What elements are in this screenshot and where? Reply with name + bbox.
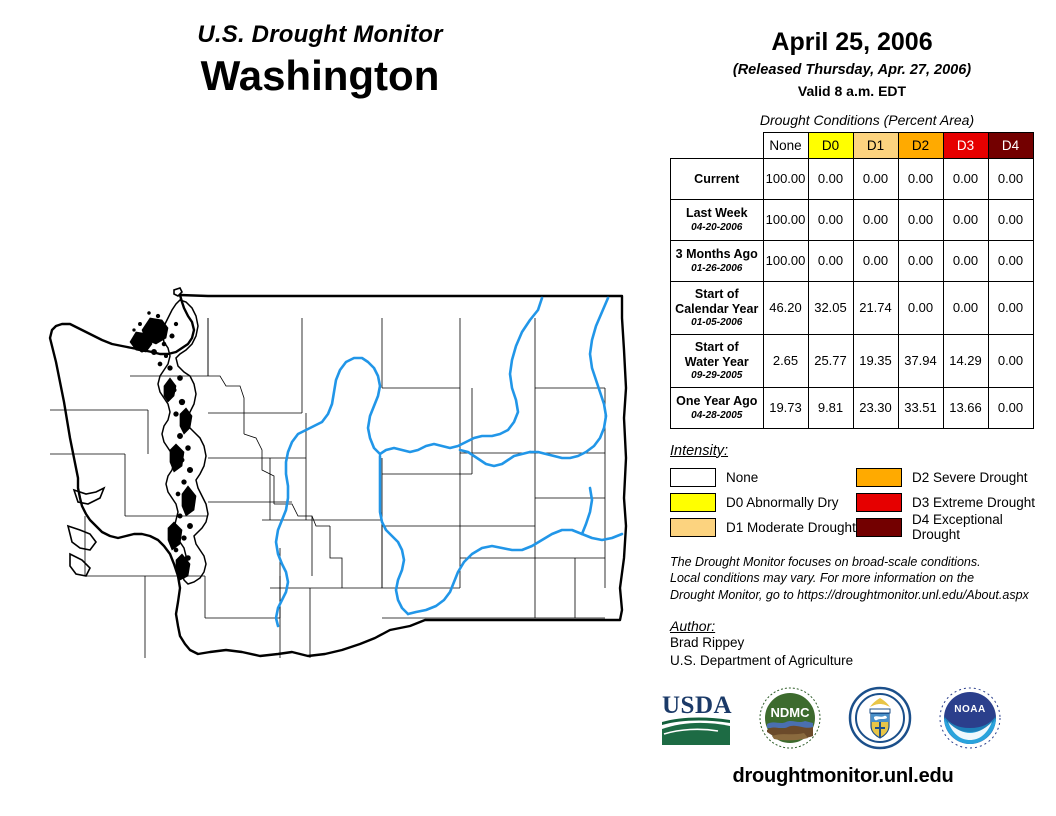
row-label-date: 09-29-2005	[673, 370, 761, 382]
row-label-text-line1: Start of	[695, 287, 739, 301]
table-row: Current 100.00 0.00 0.00 0.00 0.00 0.00	[671, 158, 1034, 199]
cell-wateryear-none: 2.65	[763, 334, 808, 387]
cell-lastweek-none: 100.00	[763, 199, 808, 240]
snake-river	[408, 530, 622, 614]
cell-current-d1: 0.00	[853, 158, 898, 199]
cell-wateryear-d1: 19.35	[853, 334, 898, 387]
cell-lastweek-d3: 0.00	[943, 199, 988, 240]
cell-calyear-d0: 32.05	[808, 281, 853, 334]
table-header-row: None D0 D1 D2 D3 D4	[671, 132, 1034, 158]
table-row: Start of Water Year 09-29-2005 2.65 25.7…	[671, 334, 1034, 387]
cell-calyear-d2: 0.00	[898, 281, 943, 334]
column-header-d4: D4	[988, 132, 1033, 158]
row-label-date: 04-20-2006	[673, 222, 761, 234]
valid-time: Valid 8 a.m. EDT	[648, 83, 1056, 99]
cell-3months-none: 100.00	[763, 240, 808, 281]
site-url: droughtmonitor.unl.edu	[648, 765, 1056, 788]
swatch-d1-icon	[670, 518, 716, 537]
date-block: April 25, 2006 (Released Thursday, Apr. …	[648, 0, 1056, 99]
row-label-one-year-ago: One Year Ago 04-28-2005	[671, 387, 764, 428]
author-organization: U.S. Department of Agriculture	[670, 652, 1056, 670]
legend-item-d0: D0 Abnormally Dry	[670, 493, 856, 512]
row-label-date: 01-26-2006	[673, 263, 761, 275]
author-heading: Author:	[670, 618, 1056, 634]
cell-lastweek-d4: 0.00	[988, 199, 1033, 240]
swatch-none-icon	[670, 468, 716, 487]
row-label-text-line2: Calendar Year	[675, 302, 758, 316]
cell-wateryear-d0: 25.77	[808, 334, 853, 387]
cell-calyear-d1: 21.74	[853, 281, 898, 334]
corner-cell	[671, 132, 764, 158]
rivers-layer	[276, 298, 622, 626]
cell-current-d2: 0.00	[898, 158, 943, 199]
svg-text:NOAA: NOAA	[954, 704, 985, 715]
row-label-text: Current	[694, 172, 739, 186]
swatch-d0-icon	[670, 493, 716, 512]
ndmc-logo-icon: NDMC	[758, 686, 822, 750]
column-header-d2: D2	[898, 132, 943, 158]
cell-oneyear-none: 19.73	[763, 387, 808, 428]
table-row: 3 Months Ago 01-26-2006 100.00 0.00 0.00…	[671, 240, 1034, 281]
cell-wateryear-d2: 37.94	[898, 334, 943, 387]
cell-calyear-d3: 0.00	[943, 281, 988, 334]
conditions-table-wrapper: None D0 D1 D2 D3 D4 Current 100.00 0.00 …	[648, 132, 1056, 429]
row-label-text-line2: Water Year	[685, 355, 749, 369]
intensity-legend: None D2 Severe Drought D0 Abnormally Dry…	[670, 465, 1056, 540]
disclaimer-line-1: The Drought Monitor focuses on broad-sca…	[670, 554, 1056, 571]
column-header-d0: D0	[808, 132, 853, 158]
columbia-river-mid	[460, 450, 530, 466]
usdc-seal-icon	[848, 686, 912, 750]
legend-label-d1: D1 Moderate Drought	[726, 520, 856, 535]
report-date: April 25, 2006	[648, 28, 1056, 57]
cell-lastweek-d2: 0.00	[898, 199, 943, 240]
column-header-d1: D1	[853, 132, 898, 158]
cell-wateryear-d4: 0.00	[988, 334, 1033, 387]
row-label-current: Current	[671, 158, 764, 199]
coastal-inlets	[68, 488, 104, 576]
legend-item-d2: D2 Severe Drought	[856, 468, 1042, 487]
column-header-d3: D3	[943, 132, 988, 158]
disclaimer-line-2: Local conditions may vary. For more info…	[670, 570, 1056, 587]
drought-map	[30, 258, 640, 658]
table-body: Current 100.00 0.00 0.00 0.00 0.00 0.00 …	[671, 158, 1034, 428]
swatch-d3-icon	[856, 493, 902, 512]
usdc-seal	[848, 686, 912, 755]
svg-text:NDMC: NDMC	[771, 705, 811, 720]
noaa-logo-icon: NOAA	[938, 686, 1002, 750]
row-label-text: Last Week	[686, 206, 748, 220]
columbia-river-north-bend	[276, 358, 380, 626]
legend-item-none: None	[670, 468, 856, 487]
row-label-start-water-year: Start of Water Year 09-29-2005	[671, 334, 764, 387]
usda-logo: USDA	[660, 689, 732, 752]
cell-current-d4: 0.00	[988, 158, 1033, 199]
river-branch-ne	[582, 488, 592, 534]
row-label-start-calendar-year: Start of Calendar Year 01-05-2006	[671, 281, 764, 334]
right-panel: April 25, 2006 (Released Thursday, Apr. …	[648, 0, 1056, 816]
snake-confluence	[380, 456, 408, 614]
table-row: Start of Calendar Year 01-05-2006 46.20 …	[671, 281, 1034, 334]
cell-lastweek-d1: 0.00	[853, 199, 898, 240]
legend-item-d3: D3 Extreme Drought	[856, 493, 1042, 512]
legend-label-d2: D2 Severe Drought	[912, 470, 1028, 485]
noaa-logo: NOAA	[938, 686, 1002, 755]
cell-calyear-d4: 0.00	[988, 281, 1033, 334]
row-label-three-months-ago: 3 Months Ago 01-26-2006	[671, 240, 764, 281]
disclaimer-line-3: Drought Monitor, go to https://droughtmo…	[670, 587, 1056, 604]
cell-3months-d2: 0.00	[898, 240, 943, 281]
legend-label-none: None	[726, 470, 758, 485]
title-block: U.S. Drought Monitor Washington	[0, 22, 640, 101]
cell-oneyear-d3: 13.66	[943, 387, 988, 428]
cell-current-d0: 0.00	[808, 158, 853, 199]
cell-oneyear-d1: 23.30	[853, 387, 898, 428]
svg-text:USDA: USDA	[662, 692, 732, 719]
table-row: One Year Ago 04-28-2005 19.73 9.81 23.30…	[671, 387, 1034, 428]
legend-item-d1: D1 Moderate Drought	[670, 518, 856, 537]
row-label-text-line1: Start of	[695, 340, 739, 354]
usda-logo-icon: USDA	[660, 689, 732, 747]
row-label-date: 01-05-2006	[673, 317, 761, 329]
legend-label-d4: D4 Exceptional Drought	[912, 512, 1042, 542]
cell-calyear-none: 46.20	[763, 281, 808, 334]
cell-3months-d1: 0.00	[853, 240, 898, 281]
puget-sound-islands	[130, 300, 208, 584]
agency-logos: USDA NDMC	[660, 686, 1056, 755]
row-label-last-week: Last Week 04-20-2006	[671, 199, 764, 240]
row-label-text: One Year Ago	[676, 394, 757, 408]
row-label-date: 04-28-2005	[673, 410, 761, 422]
cell-current-d3: 0.00	[943, 158, 988, 199]
author-name: Brad Rippey	[670, 634, 1056, 652]
state-title: Washington	[0, 52, 640, 100]
legend-label-d3: D3 Extreme Drought	[912, 495, 1035, 510]
swatch-d4-icon	[856, 518, 902, 537]
cell-oneyear-d0: 9.81	[808, 387, 853, 428]
table-row: Last Week 04-20-2006 100.00 0.00 0.00 0.…	[671, 199, 1034, 240]
cell-oneyear-d4: 0.00	[988, 387, 1033, 428]
table-caption: Drought Conditions (Percent Area)	[648, 112, 1056, 128]
legend-label-d0: D0 Abnormally Dry	[726, 495, 839, 510]
drought-conditions-table: None D0 D1 D2 D3 D4 Current 100.00 0.00 …	[670, 132, 1034, 429]
column-header-none: None	[763, 132, 808, 158]
ndmc-logo: NDMC	[758, 686, 822, 755]
program-title: U.S. Drought Monitor	[0, 22, 640, 48]
cell-3months-d0: 0.00	[808, 240, 853, 281]
columbia-river-east-leg	[530, 298, 608, 458]
row-label-text: 3 Months Ago	[676, 247, 758, 261]
table-header: None D0 D1 D2 D3 D4	[671, 132, 1034, 158]
cell-oneyear-d2: 33.51	[898, 387, 943, 428]
cell-3months-d3: 0.00	[943, 240, 988, 281]
release-date: (Released Thursday, Apr. 27, 2006)	[648, 62, 1056, 78]
cell-3months-d4: 0.00	[988, 240, 1033, 281]
intensity-heading: Intensity:	[670, 443, 1056, 459]
washington-map-svg	[30, 258, 640, 658]
disclaimer: The Drought Monitor focuses on broad-sca…	[670, 554, 1056, 604]
cell-current-none: 100.00	[763, 158, 808, 199]
columbia-river-upper	[380, 298, 542, 454]
cell-wateryear-d3: 14.29	[943, 334, 988, 387]
cell-lastweek-d0: 0.00	[808, 199, 853, 240]
swatch-d2-icon	[856, 468, 902, 487]
legend-item-d4: D4 Exceptional Drought	[856, 512, 1042, 542]
